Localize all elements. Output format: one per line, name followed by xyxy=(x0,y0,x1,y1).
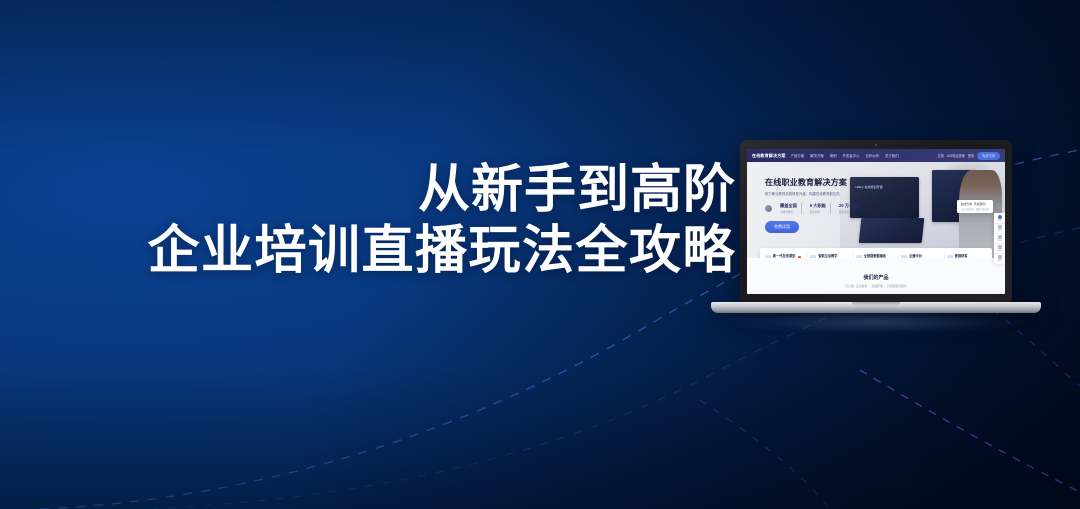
nav-item-3[interactable]: 开发者中心 xyxy=(843,153,860,158)
nav-link-phone[interactable]: 400电话咨询 xyxy=(947,153,965,158)
laptop-base xyxy=(711,302,1041,313)
promo-banner: 从新手到高阶 企业培训直播玩法全攻略 在线教育解决方案 产品方案 解决方案 案例… xyxy=(0,0,1080,509)
feature-icon xyxy=(810,255,816,259)
feature-title: 全链路数据看板 xyxy=(864,253,886,258)
nav-item-1[interactable]: 解决方案 xyxy=(810,153,824,158)
site-nav-menu: 产品方案 解决方案 案例 开发者中心 合作伙伴 关于我们 xyxy=(791,153,933,158)
stat-caption: 服务客户 xyxy=(839,210,860,214)
rail-caption: 咨询 xyxy=(997,249,1001,252)
rail-caption: 文档 xyxy=(997,229,1001,232)
arrow-up-icon xyxy=(998,255,1002,259)
feature-icon xyxy=(901,255,907,259)
chat-popup[interactable]: 在线咨询 · 售前顾问 点击开始对话，获取专属方案 xyxy=(957,200,993,213)
feature-icon xyxy=(856,255,862,259)
laptop-lid: 在线教育解决方案 产品方案 解决方案 案例 开发者中心 合作伙伴 关于我们 文档… xyxy=(740,140,1012,302)
website-hero: Hillary 在线培训开课 在线职业教育解决方案 助力职业教育机构转型升级，构… xyxy=(747,162,1005,258)
rail-item-qrcode[interactable]: 咨询 xyxy=(994,244,1005,254)
stat-badge-icon xyxy=(765,205,772,212)
hero-cta-button[interactable]: 免费试用 xyxy=(765,221,799,233)
feature-card[interactable]: 企播中台 直播管理 / 内容沉淀 xyxy=(899,253,944,258)
document-icon xyxy=(998,225,1002,229)
floating-side-rail: 客服 文档 电话 咨询 xyxy=(994,213,1005,264)
search-icon xyxy=(947,255,953,259)
stat-caption: 全场景教学 xyxy=(780,210,797,214)
hero-stat-2: 20 万+企业 服务客户 xyxy=(835,203,864,214)
headline-line-2: 企业培训直播玩法全攻略 xyxy=(0,220,736,282)
hero-copy: 在线职业教育解决方案 助力职业教育机构转型升级，构建在线教育新生态 覆盖全国 全… xyxy=(765,177,889,233)
nav-link-login[interactable]: 登录 xyxy=(968,153,974,158)
hero-subtitle: 助力职业教育机构转型升级，构建在线教育新生态 xyxy=(765,191,889,196)
nav-item-4[interactable]: 合作伙伴 xyxy=(865,153,879,158)
stat-value: 20 万+企业 xyxy=(839,203,860,209)
hero-title: 在线职业教育解决方案 xyxy=(765,177,889,188)
feature-title: 营销获客 xyxy=(955,253,976,258)
rail-item-top[interactable]: 顶部 xyxy=(994,254,1005,263)
rail-item-docs[interactable]: 文档 xyxy=(994,224,1005,234)
nav-item-2[interactable]: 案例 xyxy=(830,153,837,158)
webcam-icon xyxy=(875,144,877,146)
nav-item-5[interactable]: 关于我们 xyxy=(885,153,899,158)
feature-title: 新一代在线课堂 xyxy=(773,253,795,258)
headline-line-1: 从新手到高阶 xyxy=(0,160,736,220)
user-avatar-icon xyxy=(998,215,1002,219)
rail-item-service[interactable]: 客服 xyxy=(994,214,1005,224)
website-navbar: 在线教育解决方案 产品方案 解决方案 案例 开发者中心 合作伙伴 关于我们 文档… xyxy=(747,149,1005,162)
chat-popup-title: 在线咨询 · 售前顾问 xyxy=(961,202,989,206)
qrcode-icon xyxy=(998,245,1002,249)
rail-caption: 顶部 xyxy=(997,259,1001,262)
stat-value: 6 大职能 xyxy=(810,203,826,209)
section-title: 我们的产品 xyxy=(747,274,1005,281)
nav-link-docs[interactable]: 文档 xyxy=(937,153,943,158)
section-subtitle: 云直播 / 互动课堂 ｜ 点播存储 ｜ 音视频通话服务 xyxy=(747,284,1005,288)
feature-card[interactable]: 新一代在线课堂 高清低延时 / 互动强 xyxy=(763,253,808,258)
site-nav-right: 文档 400电话咨询 登录 免费试用 xyxy=(937,152,1000,160)
hero-stat-0: 覆盖全国 全场景教学 xyxy=(776,203,802,214)
new-badge-icon xyxy=(798,256,801,258)
phone-icon xyxy=(998,235,1002,239)
banner-headline: 从新手到高阶 企业培训直播玩法全攻略 xyxy=(0,160,736,282)
chat-popup-desc: 点击开始对话，获取专属方案 xyxy=(961,207,989,211)
laptop-notch xyxy=(852,302,900,306)
laptop-screen: 在线教育解决方案 产品方案 解决方案 案例 开发者中心 合作伙伴 关于我们 文档… xyxy=(747,149,1005,294)
rail-caption: 电话 xyxy=(997,239,1001,242)
nav-cta-button[interactable]: 免费试用 xyxy=(977,152,1000,160)
stat-caption: 能力矩阵 xyxy=(810,210,826,214)
feature-card[interactable]: 全链路数据看板 听课 / 留存 / 转化 xyxy=(854,253,899,258)
feature-title: 企播中台 xyxy=(909,253,930,258)
hero-stats: 覆盖全国 全场景教学 6 大职能 能力矩阵 20 万+企业 服务客户 xyxy=(765,203,889,214)
feature-card[interactable]: 智能互动教学 连麦 / 答题 / 抽奖 xyxy=(808,253,853,258)
feature-cards-row: 新一代在线课堂 高清低延时 / 互动强 智能互动教学 连麦 / 答题 / 抽奖 xyxy=(760,248,992,258)
hero-stat-1: 6 大职能 能力矩阵 xyxy=(806,203,831,214)
rail-caption: 客服 xyxy=(997,219,1001,222)
laptop-mockup: 在线教育解决方案 产品方案 解决方案 案例 开发者中心 合作伙伴 关于我们 文档… xyxy=(740,140,1012,313)
website-section: 我们的产品 云直播 / 互动课堂 ｜ 点播存储 ｜ 音视频通话服务 xyxy=(747,258,1005,294)
site-logo[interactable]: 在线教育解决方案 xyxy=(752,153,786,159)
rail-item-phone[interactable]: 电话 xyxy=(994,234,1005,244)
feature-icon xyxy=(765,255,771,259)
stat-value: 覆盖全国 xyxy=(780,203,797,209)
feature-title: 智能互动教学 xyxy=(818,253,837,258)
feature-card[interactable]: 营销获客 裂变拉新 / 私域运营 xyxy=(945,253,989,258)
nav-item-0[interactable]: 产品方案 xyxy=(791,153,805,158)
